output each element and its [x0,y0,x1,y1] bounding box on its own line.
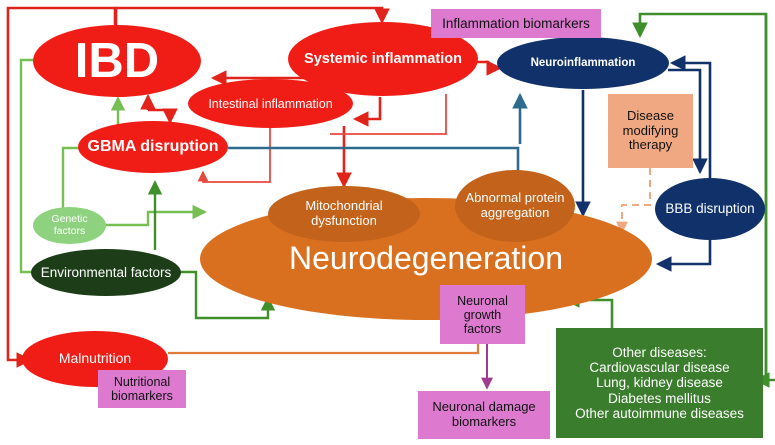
node-nutritional-biomarkers[interactable]: Nutritional biomarkers [98,370,186,408]
node-mitochondrial-dysfunction-label: Mitochondrial dysfunction [268,199,420,228]
node-inflammation-biomarkers-label: Inflammation biomarkers [431,16,601,31]
node-neuronal-growth-factors[interactable]: Neuronal growth factors [440,285,525,344]
node-abnormal-protein-aggregation[interactable]: Abnormal protein aggregation [455,170,575,242]
node-other-diseases[interactable]: Other diseases: Cardiovascular disease L… [556,328,763,438]
node-neuronal-growth-factors-label: Neuronal growth factors [440,294,525,336]
diagram-canvas: IBD Systemic inflammation Intestinal inf… [0,0,775,445]
node-systemic-inflammation-label: Systemic inflammation [288,51,478,67]
node-gbma-disruption[interactable]: GBMA disruption [78,121,228,173]
other-diseases-line-3: Diabetes mellitus [608,391,711,406]
arrow-bbb-to-neurodegeneration [658,240,710,264]
node-bbb-disruption-label: BBB disruption [655,201,765,216]
node-disease-modifying-therapy-label: Disease modifying therapy [608,109,693,153]
node-intestinal-inflammation-label: Intestinal inflammation [188,97,353,111]
node-ibd[interactable]: IBD [33,25,201,97]
node-environmental-factors-label: Environmental factors [31,265,181,280]
node-neuronal-damage-biomarkers[interactable]: Neuronal damage biomarkers [418,391,550,439]
node-bbb-disruption[interactable]: BBB disruption [655,178,765,240]
node-intestinal-inflammation[interactable]: Intestinal inflammation [188,79,353,128]
node-ibd-label: IBD [33,34,201,89]
node-inflammation-biomarkers[interactable]: Inflammation biomarkers [431,9,601,38]
arrow-systemic-to-intestinal-hook [355,97,380,119]
node-neuronal-damage-biomarkers-label: Neuronal damage biomarkers [418,400,550,429]
node-genetic-factors[interactable]: Genetic factors [33,207,106,244]
arrow-therapy-to-neurodegeneration [622,168,650,232]
node-gbma-disruption-label: GBMA disruption [78,138,228,156]
node-abnormal-protein-aggregation-label: Abnormal protein aggregation [455,191,575,220]
node-nutritional-biomarkers-label: Nutritional biomarkers [98,375,186,403]
node-disease-modifying-therapy[interactable]: Disease modifying therapy [608,94,693,168]
other-diseases-line-4: Other autoimmune diseases [575,406,744,421]
other-diseases-line-2: Lung, kidney disease [596,375,723,390]
other-diseases-line-1: Cardiovascular disease [589,360,729,375]
other-diseases-heading: Other diseases: [612,345,707,360]
node-malnutrition-label: Malnutrition [22,351,168,367]
node-neurodegeneration-label: Neurodegeneration [200,241,652,277]
node-mitochondrial-dysfunction[interactable]: Mitochondrial dysfunction [268,186,420,242]
node-environmental-factors[interactable]: Environmental factors [31,249,181,296]
node-neuroinflammation[interactable]: Neuroinflammation [497,37,669,89]
node-genetic-factors-label: Genetic factors [33,214,106,238]
node-neuroinflammation-label: Neuroinflammation [497,57,669,70]
